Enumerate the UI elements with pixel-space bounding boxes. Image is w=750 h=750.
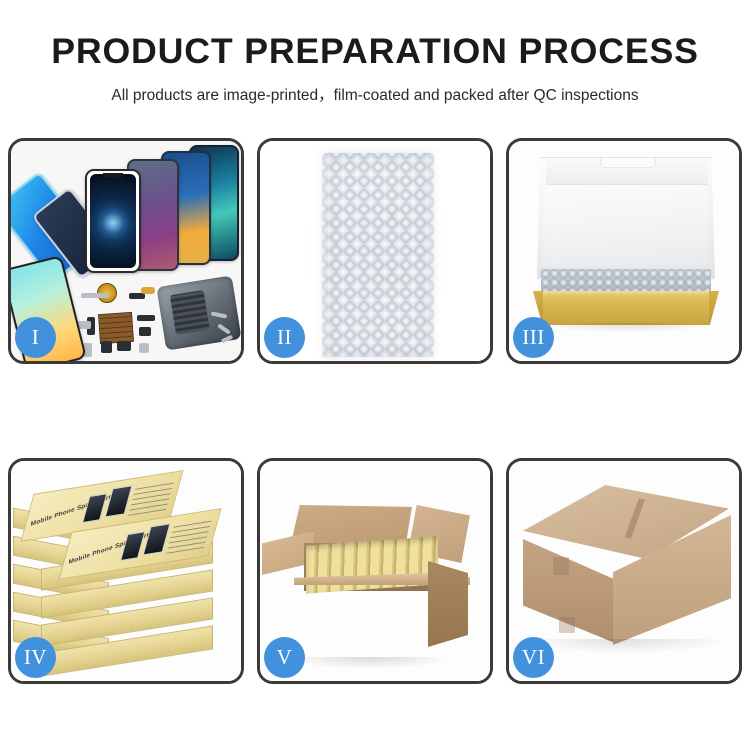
- step-panel-6: VI: [506, 458, 742, 684]
- kraft-box-tray: [533, 291, 719, 325]
- step-panel-4: Mobile Phone Spare Parts Mobile Phone Sp…: [8, 458, 244, 684]
- step-panel-1: I: [8, 138, 244, 364]
- spare-part: [139, 343, 149, 353]
- chip-part: [98, 312, 134, 344]
- spare-part: [81, 293, 109, 298]
- carton-shadow: [288, 657, 452, 669]
- carton-handle-tab: [553, 557, 569, 575]
- process-step-grid: I II III: [8, 138, 742, 684]
- carton-handle-tab: [559, 617, 575, 633]
- phone-dark-screen: [85, 169, 141, 273]
- carton-front-face: [294, 579, 434, 661]
- spare-part: [101, 341, 112, 353]
- spare-part: [137, 315, 155, 321]
- page-subtitle: All products are image-printed，film-coat…: [0, 83, 750, 105]
- carton-side-face: [428, 561, 468, 647]
- spare-part: [141, 287, 155, 294]
- step-panel-3: III: [506, 138, 742, 364]
- box-label-spec-lines: [166, 519, 212, 554]
- box-shadow: [535, 323, 719, 333]
- step-panel-5: V: [257, 458, 493, 684]
- step-badge-5: V: [264, 637, 305, 678]
- page-title: PRODUCT PREPARATION PROCESS: [0, 32, 750, 72]
- box-label-spec-lines: [128, 481, 174, 516]
- header: PRODUCT PREPARATION PROCESS All products…: [0, 0, 750, 120]
- phone-notch: [103, 173, 123, 178]
- spare-part: [139, 327, 151, 336]
- step-panel-2: II: [257, 138, 493, 364]
- bubble-wrapped-product: [322, 153, 434, 357]
- step-badge-2: II: [264, 317, 305, 358]
- step-badge-1: I: [15, 317, 56, 358]
- carton-shadow: [525, 639, 725, 653]
- box-label-screen-image: [82, 493, 107, 523]
- step-badge-6: VI: [513, 637, 554, 678]
- step-badge-3: III: [513, 317, 554, 358]
- box-label-screen-image: [120, 531, 145, 561]
- box-lid: [537, 157, 715, 279]
- screen-graphic: [96, 206, 130, 240]
- step-badge-4: IV: [15, 637, 56, 678]
- product-preparation-infographic: PRODUCT PREPARATION PROCESS All products…: [0, 0, 750, 750]
- spare-part: [117, 341, 131, 351]
